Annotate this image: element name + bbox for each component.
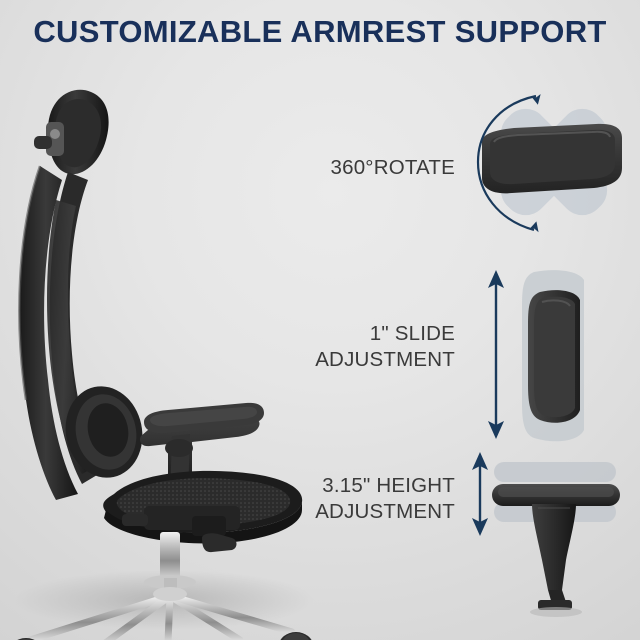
armrest-slide-diagram [480, 262, 640, 447]
vertical-double-arrow [488, 270, 504, 439]
infographic-poster: CUSTOMIZABLE ARMREST SUPPORT [0, 0, 640, 640]
feature-label-slide: 1" SLIDE ADJUSTMENT [250, 321, 455, 373]
feature-label-slide-line2: ADJUSTMENT [250, 347, 455, 373]
page-title: CUSTOMIZABLE ARMREST SUPPORT [0, 12, 640, 52]
armrest-pad [528, 290, 580, 423]
armrest-post [532, 504, 576, 610]
vertical-double-arrow [472, 452, 488, 536]
armrest-pad [482, 124, 622, 193]
post-shadow [530, 607, 582, 617]
armrest-rotate-diagram [470, 76, 640, 256]
feature-label-height-line1: 3.15" HEIGHT [240, 473, 455, 499]
armrest-height-diagram [466, 448, 640, 628]
feature-label-slide-line1: 1" SLIDE [250, 321, 455, 347]
feature-label-rotate: 360°ROTATE [250, 155, 455, 181]
headrest [34, 90, 109, 174]
armrest-pad [492, 484, 620, 506]
feature-label-height: 3.15" HEIGHT ADJUSTMENT [240, 473, 455, 525]
feature-label-height-line2: ADJUSTMENT [240, 499, 455, 525]
feature-label-rotate-line1: 360°ROTATE [250, 155, 455, 181]
caster [278, 632, 314, 640]
